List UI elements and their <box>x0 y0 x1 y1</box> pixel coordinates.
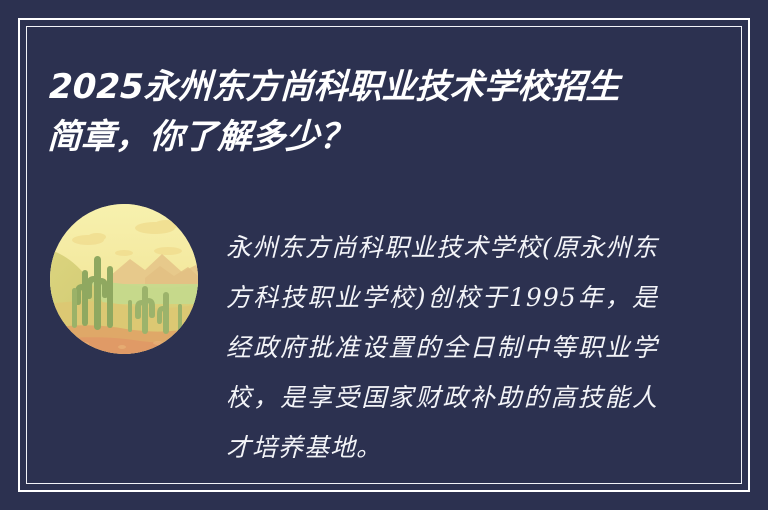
desert-thumbnail-image <box>50 204 198 354</box>
article-body-text: 永州东方尚科职业技术学校(原永州东方科技职业学校)创校于1995年，是经政府批准… <box>226 223 658 473</box>
desert-illustration-icon <box>50 204 198 354</box>
page-title: 2025永州东方尚科职业技术学校招生简章，你了解多少？ <box>47 62 650 162</box>
article-card: 2025永州东方尚科职业技术学校招生简章，你了解多少？ <box>0 0 768 510</box>
content-row: 永州东方尚科职业技术学校(原永州东方科技职业学校)创校于1995年，是经政府批准… <box>50 198 728 498</box>
